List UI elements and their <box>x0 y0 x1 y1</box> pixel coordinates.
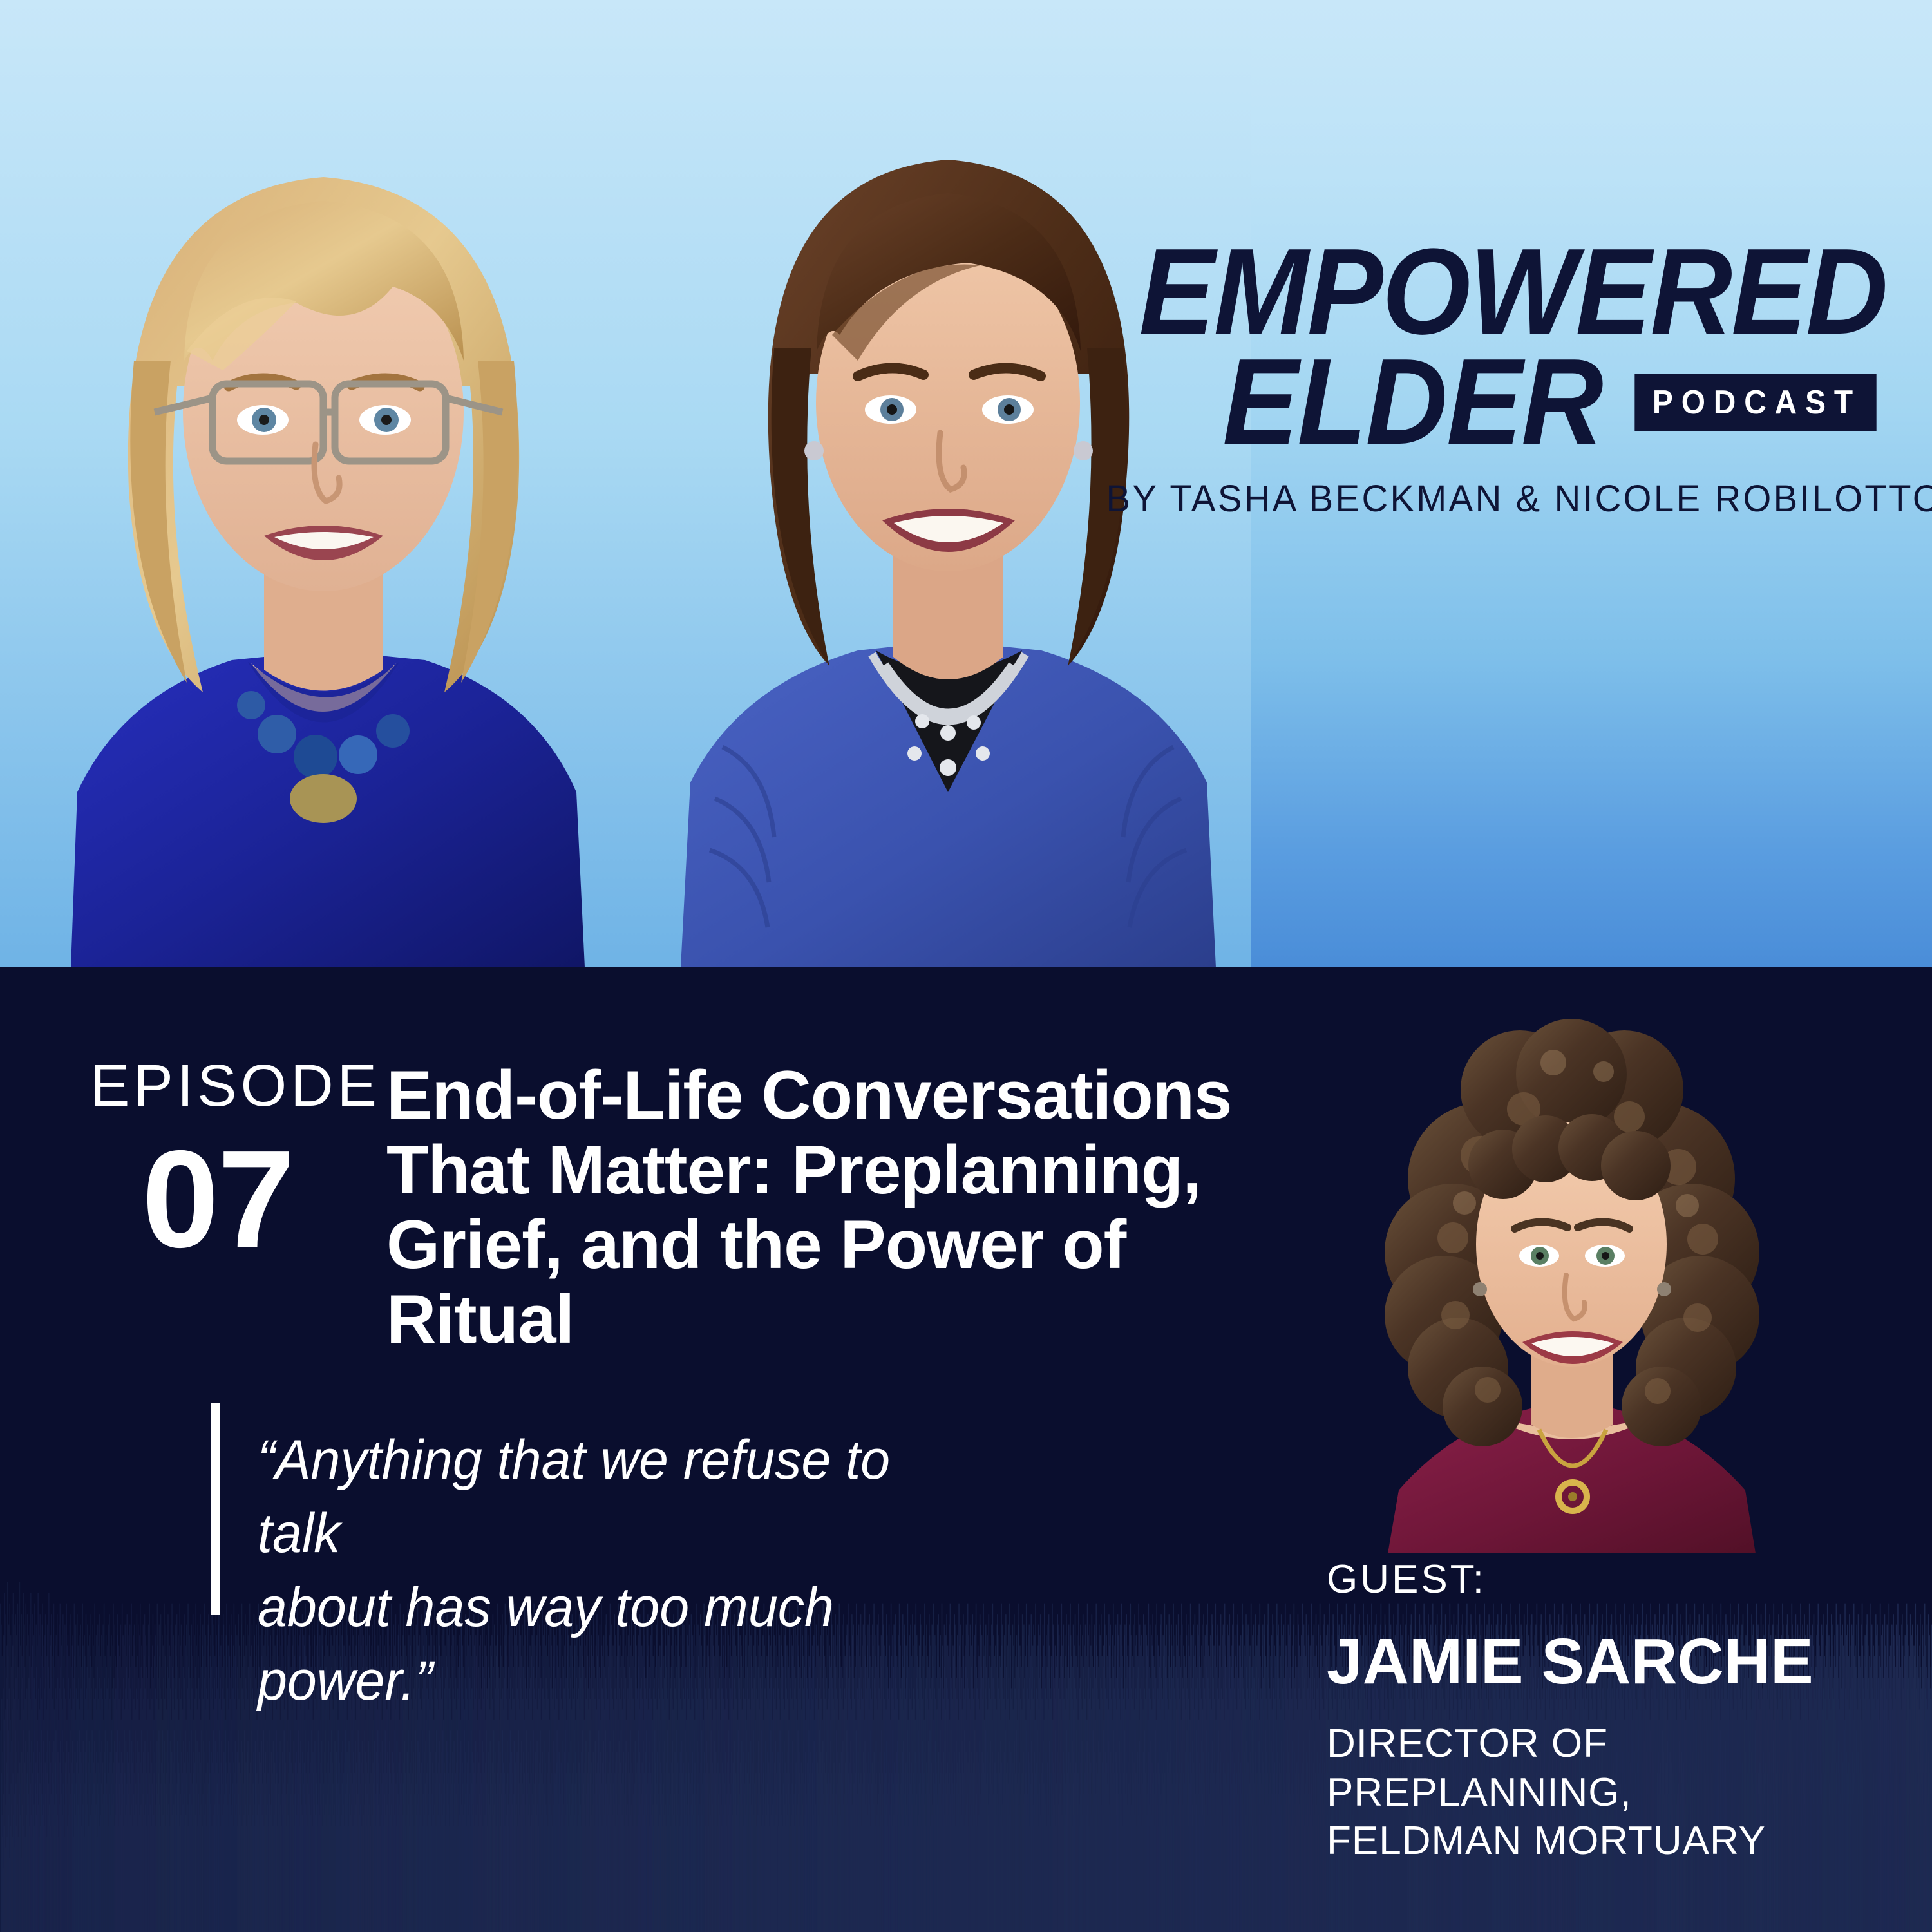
text-line-1: DIRECTOR OF PREPLANNING, <box>1327 1719 1855 1817</box>
episode-info-panel: EPISODE 07 End-of-Life ConversationsThat… <box>0 967 1932 1932</box>
guest-label: GUEST: <box>1327 1560 1855 1600</box>
text-line-2: about has way too much power.” <box>258 1571 975 1718</box>
pull-quote: “Anything that we refuse to talkabout ha… <box>211 1403 1005 1718</box>
logo-line-2-row: ELDER PODCAST <box>1082 350 1887 455</box>
host-photo-tasha-beckman <box>0 0 650 967</box>
logo-line-2: ELDER <box>1222 350 1602 455</box>
logo-line-1: EMPOWERED <box>1139 240 1888 345</box>
text-line-4: Ritual <box>386 1282 1340 1356</box>
text-line-1: “Anything that we refuse to talk <box>258 1423 975 1571</box>
guest-name: JAMIE SARCHE <box>1327 1629 1855 1694</box>
text-line-2: That Matter: Preplanning, <box>386 1132 1340 1207</box>
podcast-logo: EMPOWERED ELDER PODCAST BY TASHA BECKMAN… <box>1082 240 1887 520</box>
episode-number: 07 <box>90 1130 361 1268</box>
quote-accent-bar <box>211 1403 220 1615</box>
logo-byline: BY TASHA BECKMAN & NICOLE ROBILOTTO <box>1106 477 1888 520</box>
episode-number-block: EPISODE 07 <box>90 1056 361 1268</box>
podcast-cover-art: EMPOWERED ELDER PODCAST BY TASHA BECKMAN… <box>0 0 1932 1932</box>
quote-text: “Anything that we refuse to talkabout ha… <box>258 1403 975 1718</box>
guest-photo-jamie-sarche <box>1327 1012 1816 1553</box>
episode-title: End-of-Life ConversationsThat Matter: Pr… <box>386 1057 1340 1356</box>
episode-label: EPISODE <box>90 1056 361 1115</box>
podcast-badge: PODCAST <box>1634 374 1877 431</box>
text-line-1: End-of-Life Conversations <box>386 1057 1340 1132</box>
guest-info: GUEST: JAMIE SARCHE DIRECTOR OF PREPLANN… <box>1327 1560 1855 1866</box>
text-line-3: Grief, and the Power of <box>386 1207 1340 1282</box>
hero-photo-band: EMPOWERED ELDER PODCAST BY TASHA BECKMAN… <box>0 0 1932 967</box>
guest-role: DIRECTOR OF PREPLANNING,FELDMAN MORTUARY <box>1327 1719 1855 1866</box>
text-line-2: FELDMAN MORTUARY <box>1327 1817 1855 1866</box>
